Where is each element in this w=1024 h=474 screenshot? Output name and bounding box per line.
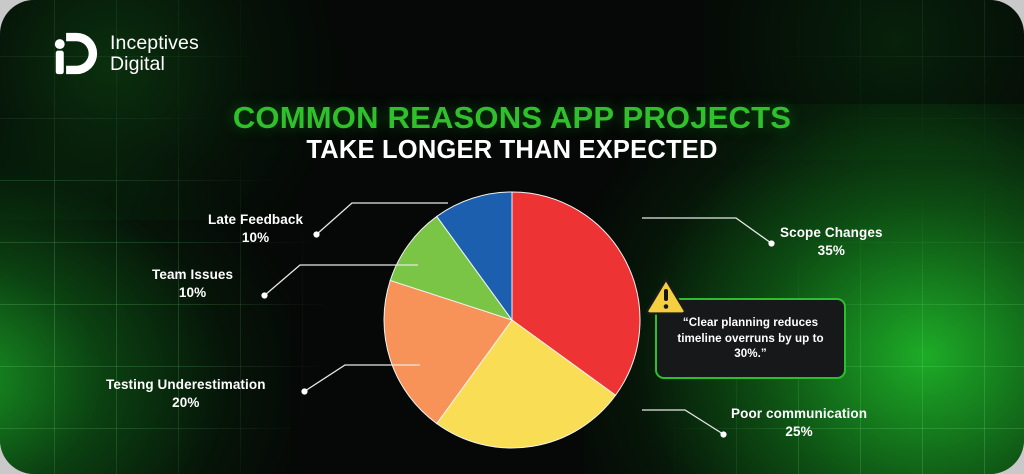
brand-name: Inceptives Digital [110, 33, 199, 74]
pie-chart-svg [382, 190, 642, 450]
leader-dot-scope-changes [768, 240, 774, 246]
leader-dot-poor-communication [720, 431, 726, 437]
pie-label-testing-underestimation: Testing Underestimation 20% [106, 376, 266, 412]
insight-callout-text: “Clear planning reduces timeline overrun… [667, 315, 834, 361]
page-title-secondary: TAKE LONGER THAN EXPECTED [0, 136, 1024, 165]
pie-label-late-feedback-text: Late Feedback [208, 212, 303, 227]
pie-label-late-feedback: Late Feedback 10% [208, 211, 303, 247]
pie-label-scope-changes-text: Scope Changes [780, 225, 883, 240]
id-monogram-logo-icon [52, 30, 99, 77]
brand-name-line1: Inceptives [110, 33, 199, 53]
pie-label-testing-underestimation-value: 20% [106, 394, 266, 412]
infographic-card: Inceptives Digital COMMON REASONS APP PR… [0, 0, 1024, 474]
pie-label-late-feedback-value: 10% [208, 229, 303, 247]
pie-label-poor-communication-text: Poor communication [731, 406, 867, 421]
pie-label-team-issues-value: 10% [152, 284, 233, 302]
pie-label-scope-changes-value: 35% [780, 242, 883, 260]
pie-label-poor-communication-value: 25% [731, 423, 867, 441]
warning-triangle-icon [645, 277, 687, 315]
glow-left [0, 120, 290, 474]
pie-label-team-issues: Team Issues 10% [152, 266, 233, 302]
leader-dot-team-issues [261, 292, 267, 298]
pie-label-team-issues-text: Team Issues [152, 267, 233, 282]
pie-label-scope-changes: Scope Changes 35% [780, 224, 883, 260]
leader-line-poor-communication [642, 410, 723, 434]
brand-logo: Inceptives Digital [52, 30, 199, 77]
leader-dot-testing-underestimation [301, 388, 307, 394]
leader-line-scope-changes [642, 218, 771, 243]
brand-name-line2: Digital [110, 54, 199, 74]
pie-label-testing-underestimation-text: Testing Underestimation [106, 377, 266, 392]
leader-dot-late-feedback [313, 231, 319, 237]
pie-chart [382, 190, 642, 450]
pie-label-poor-communication: Poor communication 25% [731, 405, 867, 441]
page-title-primary: COMMON REASONS APP PROJECTS [0, 100, 1024, 136]
